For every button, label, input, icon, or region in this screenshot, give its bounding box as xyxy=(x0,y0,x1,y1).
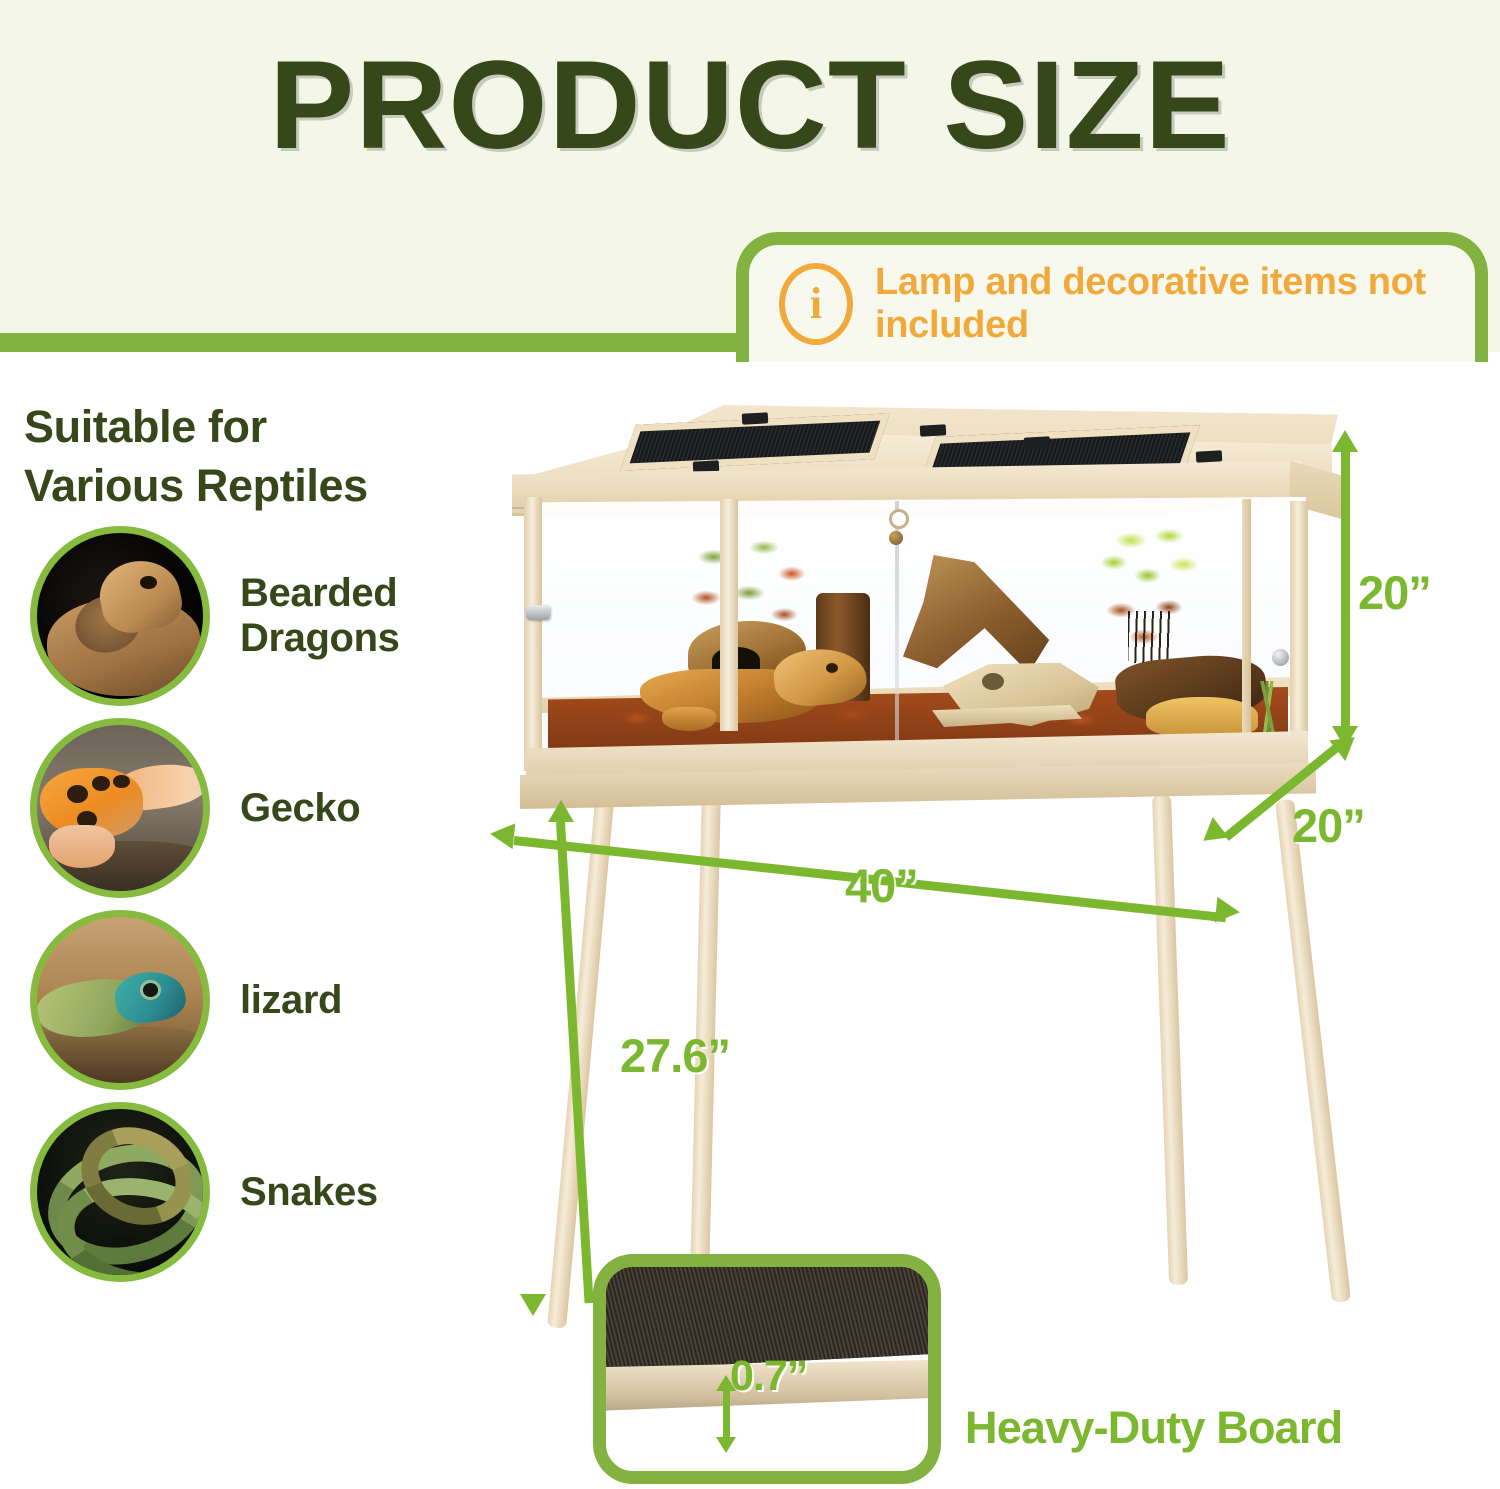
bearded-dragon-photo xyxy=(30,526,210,706)
list-item: Snakes xyxy=(30,1094,490,1290)
heading-line-1: Suitable for xyxy=(24,398,474,457)
list-item: Gecko xyxy=(30,710,490,906)
heading-line-2: Various Reptiles xyxy=(24,457,474,516)
door-lock-bolt xyxy=(889,531,903,545)
heavy-duty-board-caption: Heavy-Duty Board xyxy=(965,1402,1342,1454)
latch-icon xyxy=(526,605,550,620)
notice-banner: i Lamp and decorative items not included xyxy=(736,232,1488,362)
leg-front-right xyxy=(1275,799,1351,1303)
reptile-label-snakes: Snakes xyxy=(240,1170,378,1215)
plant-decor-right xyxy=(1090,525,1210,635)
dimension-label-depth: 20” xyxy=(1292,798,1365,853)
frame-post-right-inner xyxy=(1242,499,1251,735)
frame-post-right xyxy=(1290,501,1308,751)
door-knob-right xyxy=(1272,649,1289,666)
list-item: lizard xyxy=(30,902,490,1098)
dimension-label-board-thickness: 0.7” xyxy=(730,1352,807,1401)
frame-post-middle xyxy=(720,499,738,731)
skull-eye-socket xyxy=(982,673,1004,690)
reptile-label-lizard: lizard xyxy=(240,978,342,1023)
reptile-list: Bearded Dragons Gecko lizard Snakes xyxy=(30,518,490,1286)
info-icon: i xyxy=(779,263,853,345)
dimension-label-height: 20” xyxy=(1358,565,1431,620)
driftwood-decor xyxy=(886,555,1056,673)
snake-photo xyxy=(30,1102,210,1282)
frame-post-left xyxy=(524,497,542,771)
reptile-label-gecko: Gecko xyxy=(240,786,360,831)
skull-jaw-decor xyxy=(932,705,1082,727)
page-title: PRODUCT SIZE xyxy=(0,40,1500,171)
bearded-dragon-in-tank xyxy=(640,649,870,731)
dimension-label-leg-height: 27.6” xyxy=(620,1028,730,1083)
suitable-reptiles-heading: Suitable for Various Reptiles xyxy=(24,398,474,515)
grass-decor xyxy=(1250,681,1286,737)
header-accent-rule xyxy=(0,333,760,352)
reptile-label-bearded-dragons: Bearded Dragons xyxy=(240,571,490,661)
notice-text: Lamp and decorative items not included xyxy=(875,261,1475,346)
lizard-photo xyxy=(30,910,210,1090)
dimension-label-width: 40” xyxy=(845,858,918,913)
gecko-photo xyxy=(30,718,210,898)
list-item: Bearded Dragons xyxy=(30,518,490,714)
door-lock-ring xyxy=(889,509,909,529)
